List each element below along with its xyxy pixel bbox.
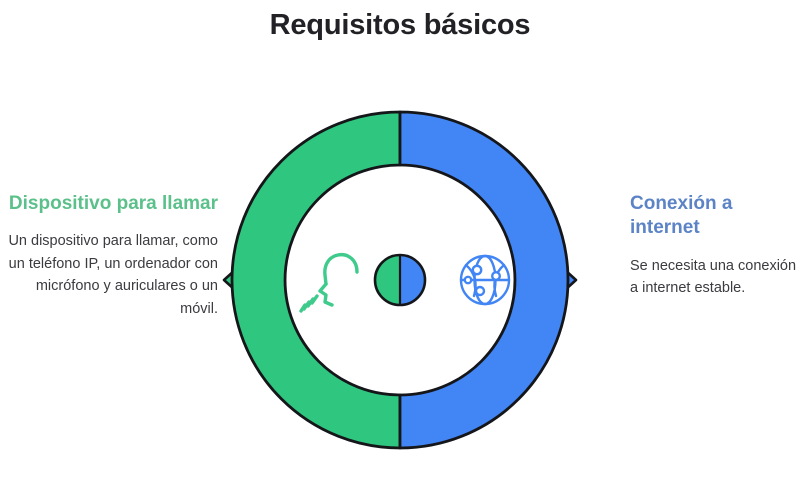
page-title: Requisitos básicos — [0, 8, 800, 43]
split-donut-diagram — [216, 100, 584, 460]
left-panel-heading: Dispositivo para llamar — [8, 192, 218, 216]
globe-network-icon — [461, 256, 509, 304]
center-split-circle — [375, 255, 425, 305]
right-panel-heading: Conexión a internet — [630, 192, 798, 241]
right-panel: Conexión a internet Se necesita una cone… — [630, 192, 798, 300]
right-panel-body: Se necesita una conexión a internet esta… — [630, 255, 798, 300]
left-panel-body: Un dispositivo para llamar, como un telé… — [8, 230, 218, 320]
left-panel: Dispositivo para llamar Un dispositivo p… — [8, 192, 218, 320]
headset-icon — [301, 255, 357, 311]
infographic-canvas: Requisitos básicos Dispositivo para llam… — [0, 0, 800, 486]
